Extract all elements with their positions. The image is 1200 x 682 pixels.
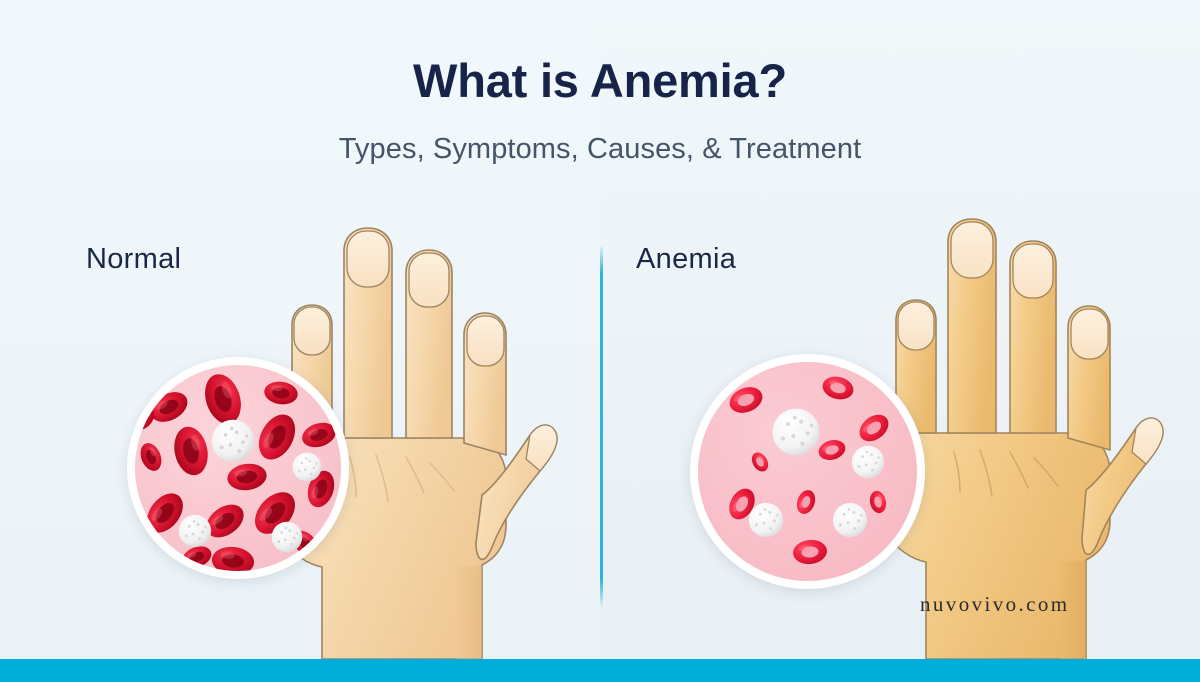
watermark-nuvovivo: nuvovivo.com xyxy=(920,592,1070,617)
page-subtitle: Types, Symptoms, Causes, & Treatment xyxy=(0,134,1200,166)
anemia-infographic: What is Anemia? Types, Symptoms, Causes,… xyxy=(0,0,1200,682)
bottom-accent-bar xyxy=(0,659,1200,682)
blood-sample-anemia xyxy=(690,354,925,589)
label-anemia: Anemia xyxy=(636,243,736,276)
page-title: What is Anemia? xyxy=(0,56,1200,105)
blood-sample-normal-field xyxy=(135,365,341,571)
label-normal: Normal xyxy=(86,243,181,276)
panel-divider xyxy=(600,244,603,608)
blood-sample-normal xyxy=(127,357,349,579)
blood-sample-anemia-field xyxy=(698,362,917,581)
